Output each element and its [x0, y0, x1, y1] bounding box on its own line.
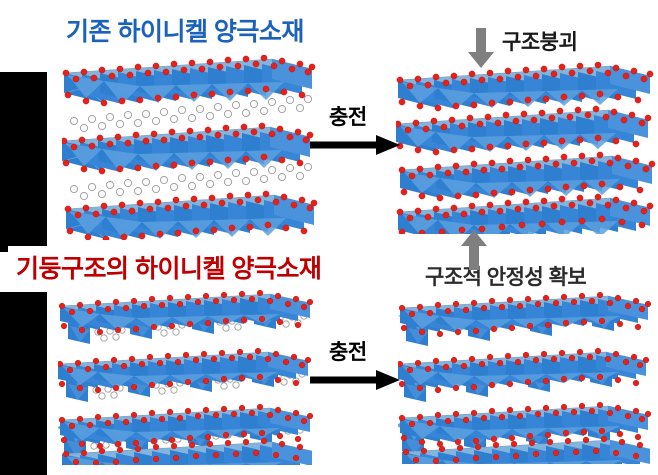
- charge-label-top: 충전: [329, 101, 367, 131]
- charge-label-bottom: 충전: [329, 336, 367, 366]
- structure-conventional-collapsed: [396, 62, 658, 234]
- structure-pillared-pristine: [58, 290, 320, 465]
- charge-arrow-top: [310, 132, 400, 158]
- diagram-canvas: 기존 하이니켈 양극소재 기둥구조의 하이니켈 양극소재 충전 충전 구조붕괴 …: [0, 0, 658, 475]
- structure-conventional-pristine: [62, 55, 320, 240]
- page-title-pillared-box: 기둥구조의 하이니켈 양극소재: [8, 246, 329, 290]
- structure-pillared-charged: [398, 292, 658, 464]
- black-bar-bottom: [0, 292, 47, 475]
- collapse-arrow-down-icon: [466, 28, 496, 68]
- structure-collapse-label: 구조붕괴: [502, 26, 577, 56]
- structural-stability-label: 구조적 안정성 확보: [425, 261, 586, 291]
- stability-arrow-up-icon: [459, 230, 489, 270]
- charge-arrow-bottom: [310, 367, 400, 393]
- black-bar-top: [0, 72, 47, 252]
- page-title-conventional: 기존 하이니켈 양극소재: [66, 12, 304, 48]
- page-title-pillared: 기둥구조의 하이니켈 양극소재: [16, 255, 321, 283]
